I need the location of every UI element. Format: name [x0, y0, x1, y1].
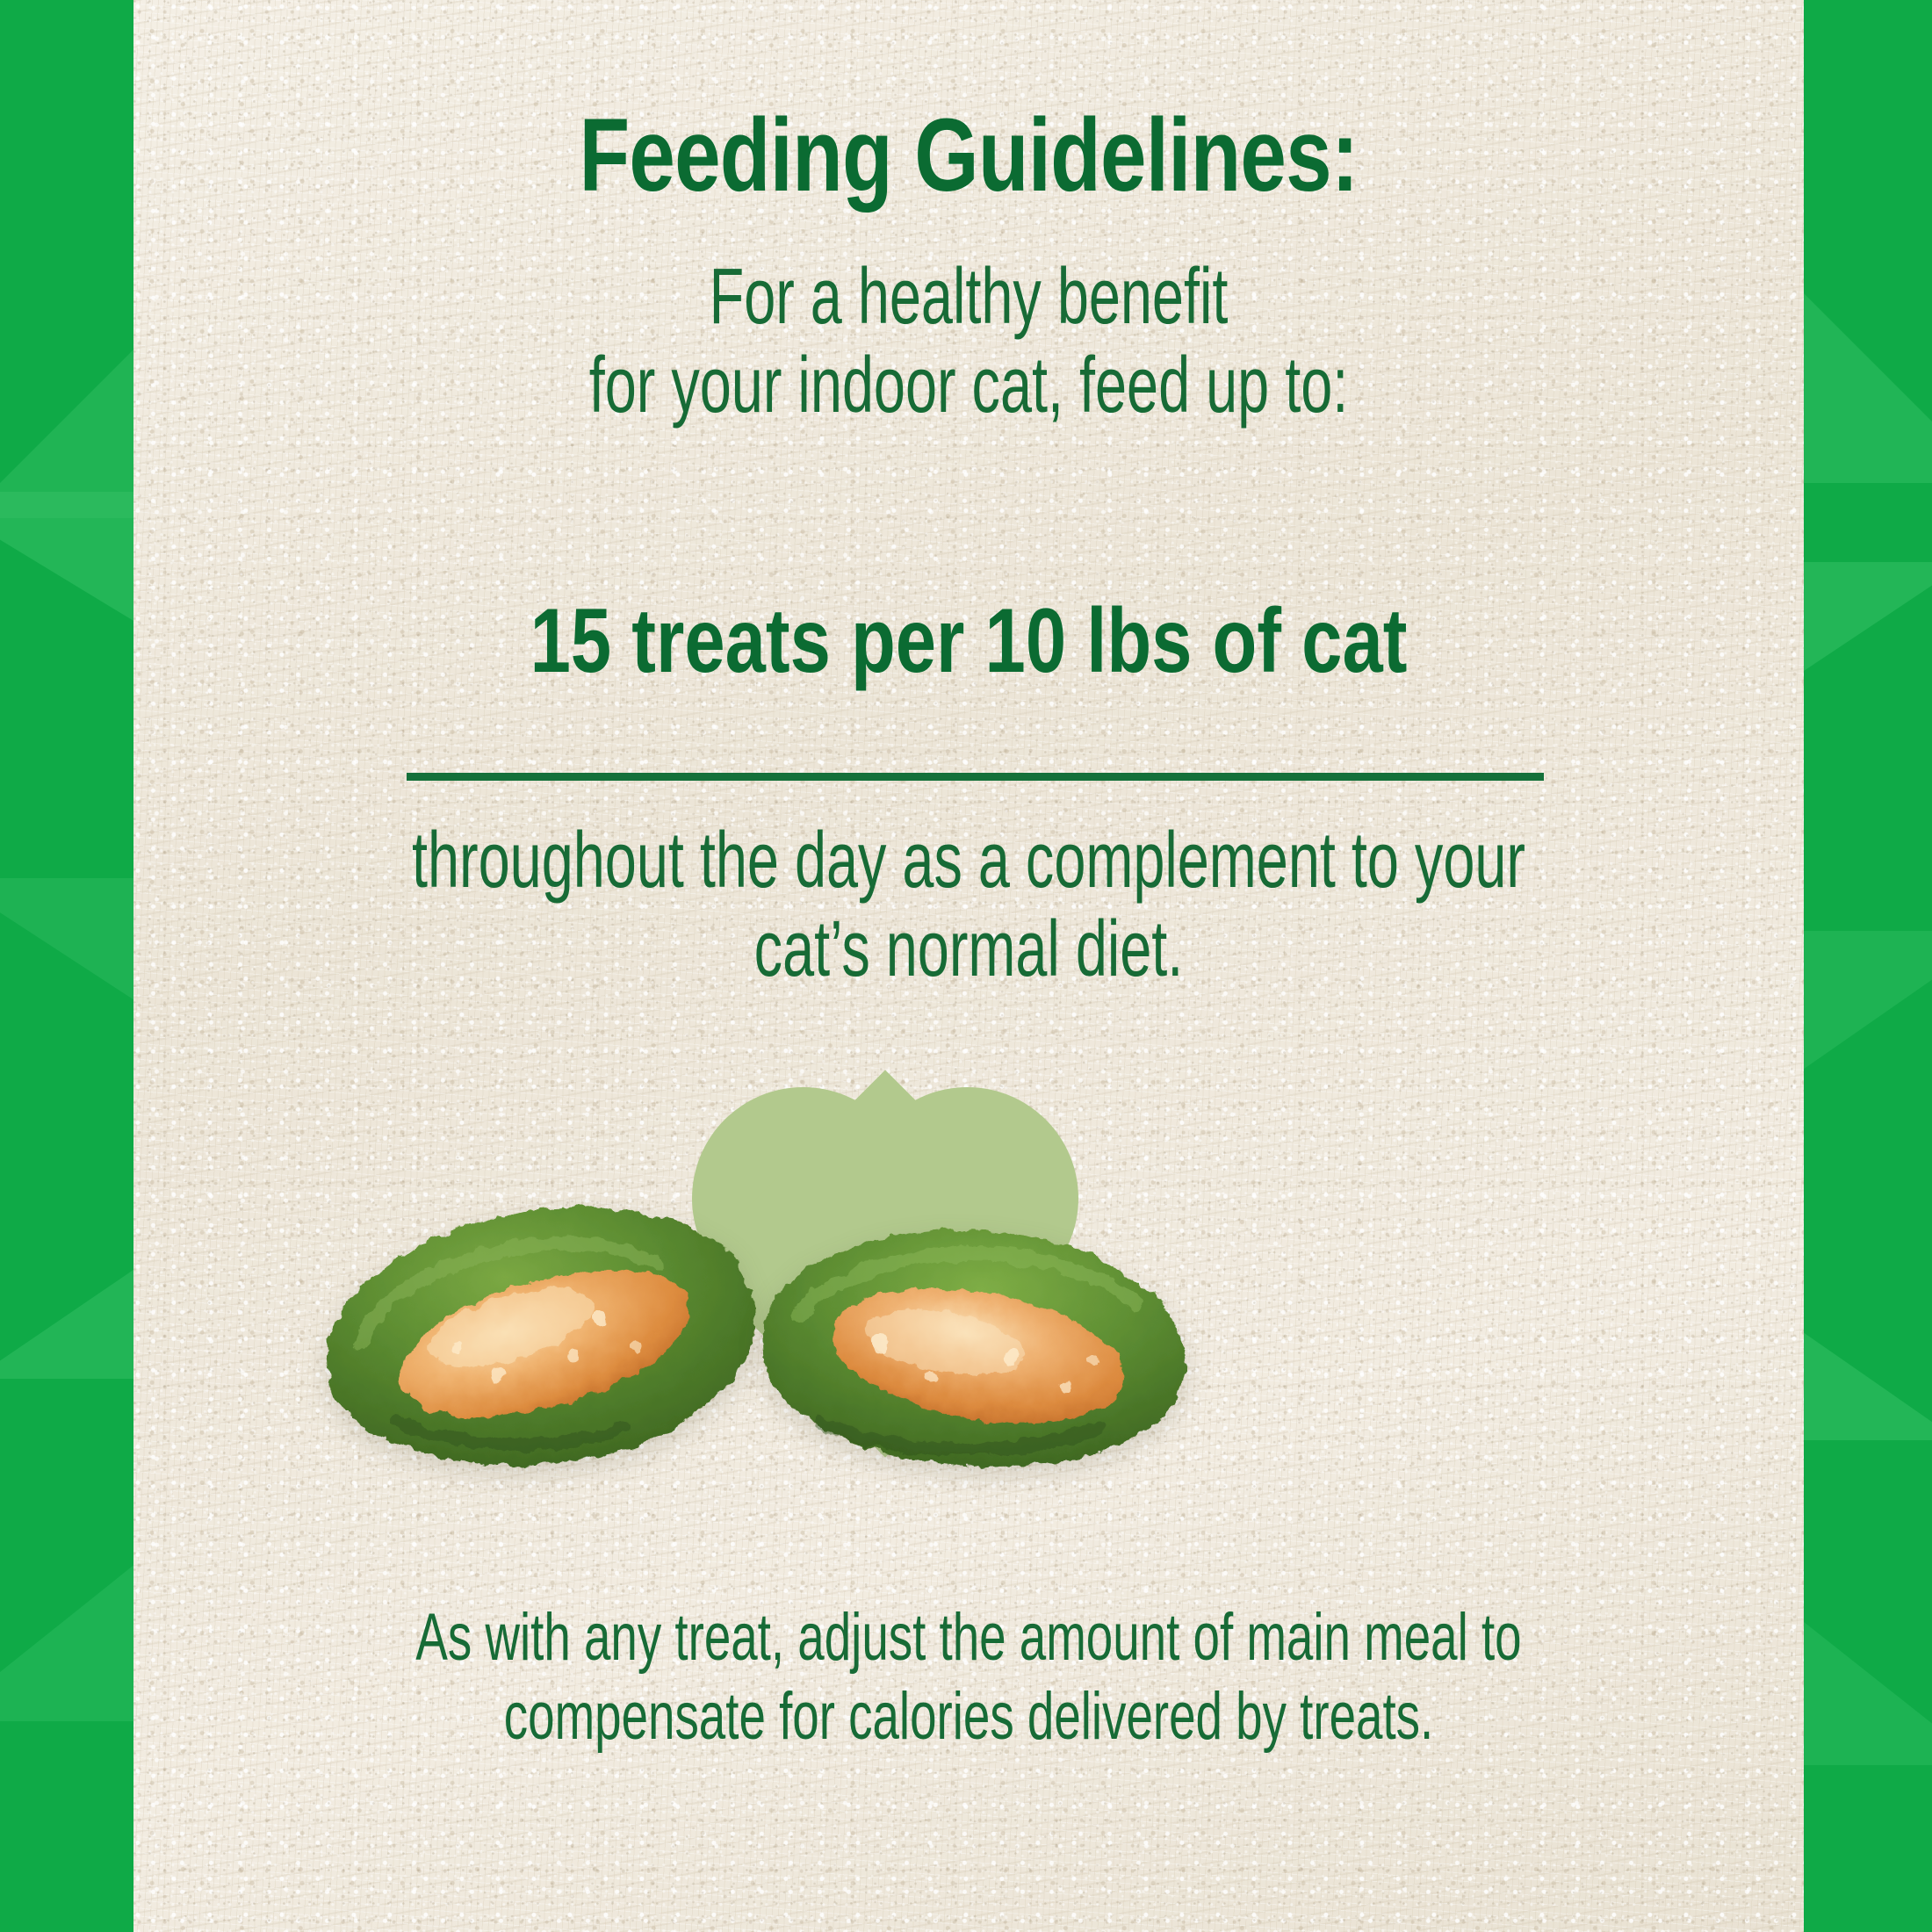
- decorative-triangle: [1804, 562, 1932, 720]
- treat-photo-group: [133, 1080, 1804, 1493]
- decorative-triangle: [1804, 931, 1932, 1071]
- feeding-guidelines-panel: Feeding Guidelines: For a healthy benefi…: [0, 0, 1932, 1932]
- body-paragraph: throughout the day as a complement to yo…: [367, 817, 1569, 994]
- body-line-2: cat’s normal diet.: [367, 905, 1569, 994]
- paper-background-panel: Feeding Guidelines: For a healthy benefi…: [133, 0, 1804, 1932]
- footnote-paragraph: As with any treat, adjust the amount of …: [367, 1598, 1569, 1755]
- cat-treat-half-left-icon: [309, 1186, 766, 1475]
- decorative-triangle: [1804, 263, 1932, 483]
- footnote-line-2: compensate for calories delivered by tre…: [367, 1677, 1569, 1756]
- feeding-amount-headline: 15 treats per 10 lbs of cat: [300, 595, 1637, 687]
- right-green-band: [1804, 0, 1932, 1932]
- decorative-triangle: [0, 290, 133, 518]
- intro-paragraph: For a healthy benefit for your indoor ca…: [367, 253, 1569, 430]
- decorative-triangle: [0, 878, 133, 1010]
- horizontal-divider: [407, 773, 1544, 781]
- decorative-triangle: [1804, 1598, 1932, 1765]
- decorative-triangle: [1804, 1300, 1932, 1440]
- body-line-1: throughout the day as a complement to yo…: [367, 817, 1569, 905]
- cat-treat-half-right-icon: [748, 1203, 1205, 1484]
- page-title: Feeding Guidelines:: [300, 104, 1637, 207]
- footnote-line-1: As with any treat, adjust the amount of …: [367, 1598, 1569, 1677]
- intro-line-1: For a healthy benefit: [367, 253, 1569, 342]
- left-green-band: [0, 0, 133, 1932]
- decorative-triangle: [0, 492, 133, 641]
- decorative-triangle: [0, 1546, 133, 1721]
- decorative-triangle: [0, 1247, 133, 1379]
- intro-line-2: for your indoor cat, feed up to:: [367, 342, 1569, 430]
